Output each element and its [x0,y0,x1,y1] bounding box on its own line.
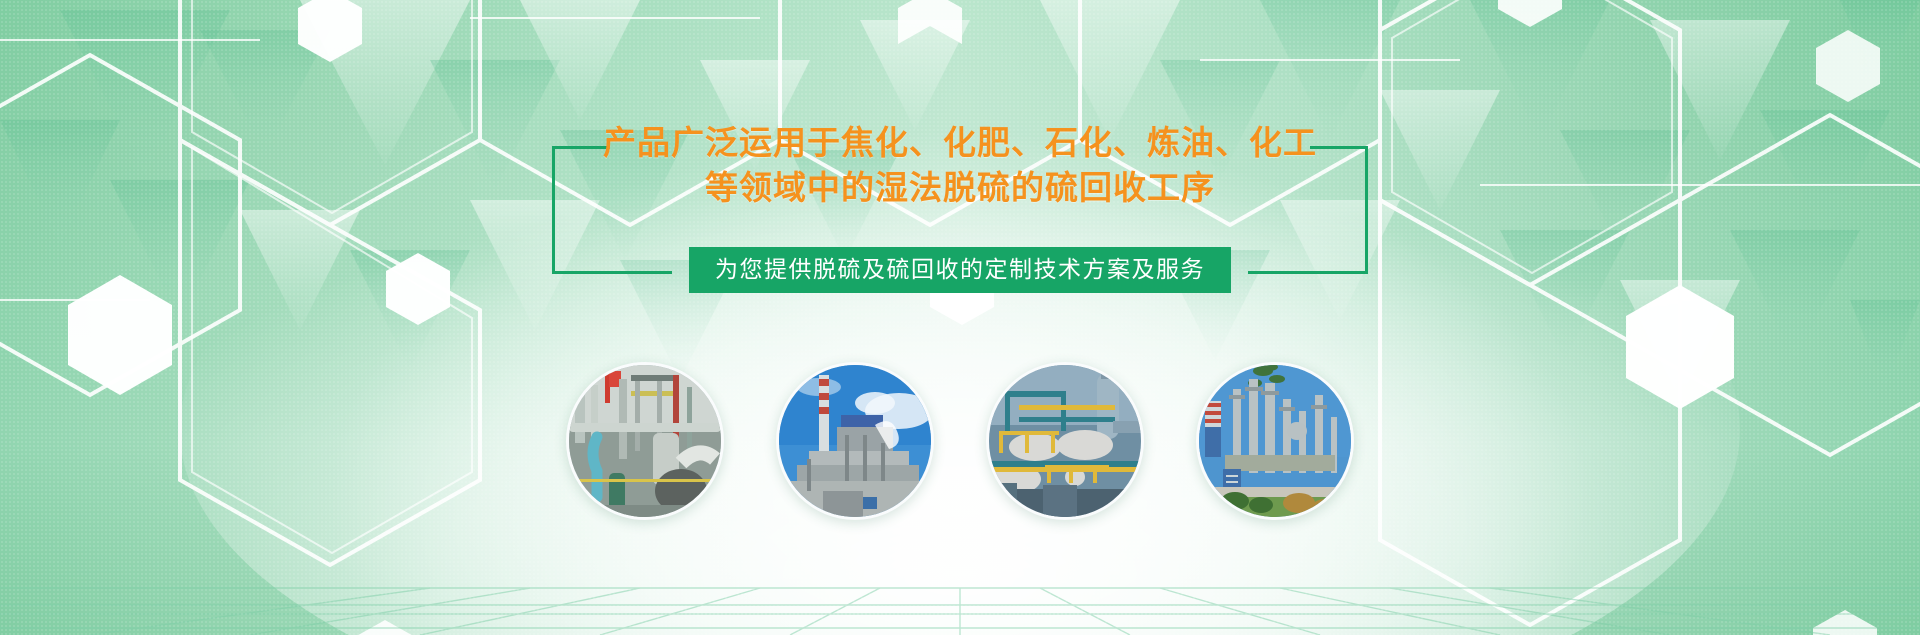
headline-line-2: 等领域中的湿法脱硫的硫回收工序 [580,165,1340,210]
bracket-left-vertical [552,146,555,274]
subtitle-banner: 为您提供脱硫及硫回收的定制技术方案及服务 [689,247,1231,293]
photo-plant-chimney [776,362,934,520]
background-pattern [0,0,1920,635]
banner-stage: 产品广泛运用于焦化、化肥、石化、炼油、化工 等领域中的湿法脱硫的硫回收工序 为您… [0,0,1920,635]
headline-line-1: 产品广泛运用于焦化、化肥、石化、炼油、化工 [580,120,1340,165]
bracket-bottom-left-segment [552,271,672,274]
photo-refinery-towers [1196,362,1354,520]
bracket-right-vertical [1365,146,1368,274]
bracket-bottom-right-segment [1248,271,1368,274]
decorative-bracket-frame: 产品广泛运用于焦化、化肥、石化、炼油、化工 等领域中的湿法脱硫的硫回收工序 为您… [552,124,1368,274]
headline-text: 产品广泛运用于焦化、化肥、石化、炼油、化工 等领域中的湿法脱硫的硫回收工序 [580,120,1340,210]
photo-sulfur-recovery-vessels [986,362,1144,520]
photo-desulfurization-piping [566,362,724,520]
photo-circle-row [0,362,1920,520]
headline-block: 产品广泛运用于焦化、化肥、石化、炼油、化工 等领域中的湿法脱硫的硫回收工序 为您… [0,124,1920,274]
